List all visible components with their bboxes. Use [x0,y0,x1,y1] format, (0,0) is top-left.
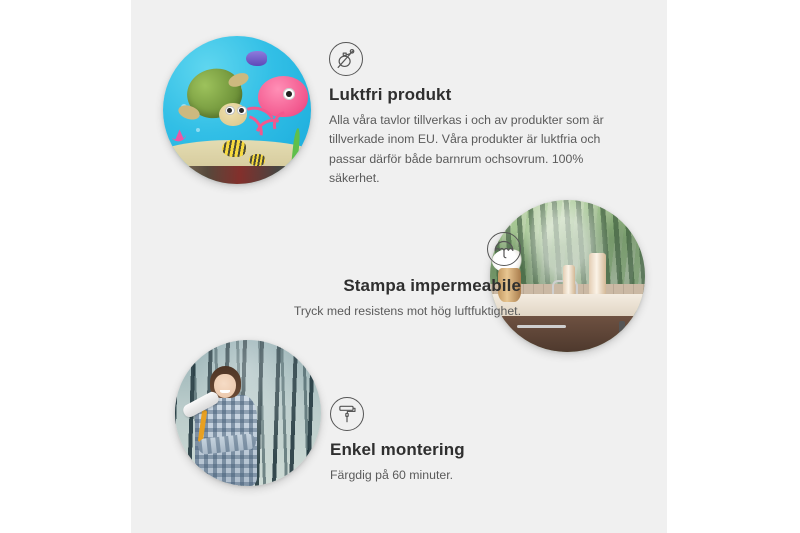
feature-block-waterproof-print: Stampa impermeabile Tryck med resistens … [211,232,521,321]
feature-block-odour-free: Luktfri produkt Alla våra tavlor tillver… [329,42,618,189]
wooden-vanity-cabinet [502,316,645,352]
product-feature-panel: Luktfri produkt Alla våra tavlor tillver… [131,0,667,533]
striped-fish-icon [249,154,265,166]
room-foreground-strip [163,166,311,184]
screenshot-root: Luktfri produkt Alla våra tavlor tillver… [0,0,800,533]
striped-fish-icon [222,140,246,158]
feature-block-easy-mounting: Enkel montering Färgdig på 60 minuter. [330,397,590,485]
feature-description: Färgdig på 60 minuter. [330,466,590,485]
feature-title: Stampa impermeabile [211,276,521,296]
feature-description: Tryck med resistens mot hög luftfuktighe… [211,302,521,321]
feature-title: Luktfri produkt [329,85,618,105]
underwater-scene-artwork [163,36,311,184]
paint-roller-icon [330,397,364,431]
soap-bottle [589,253,606,296]
no-fragrance-icon [329,42,363,76]
feature-description: Alla våra tavlor tillverkas i och av pro… [329,111,613,189]
soap-bottle [563,265,575,295]
octopus-eye [283,88,295,100]
feature-title: Enkel montering [330,440,590,460]
umbrella-icon [487,232,521,266]
turtle-eye [225,106,235,116]
product-photo-underwater-kids-mural[interactable] [163,36,311,184]
product-photo-woman-with-paint-roller[interactable] [175,340,321,486]
purple-fish-icon [246,51,267,66]
forest-mural-scene-artwork [175,340,321,486]
